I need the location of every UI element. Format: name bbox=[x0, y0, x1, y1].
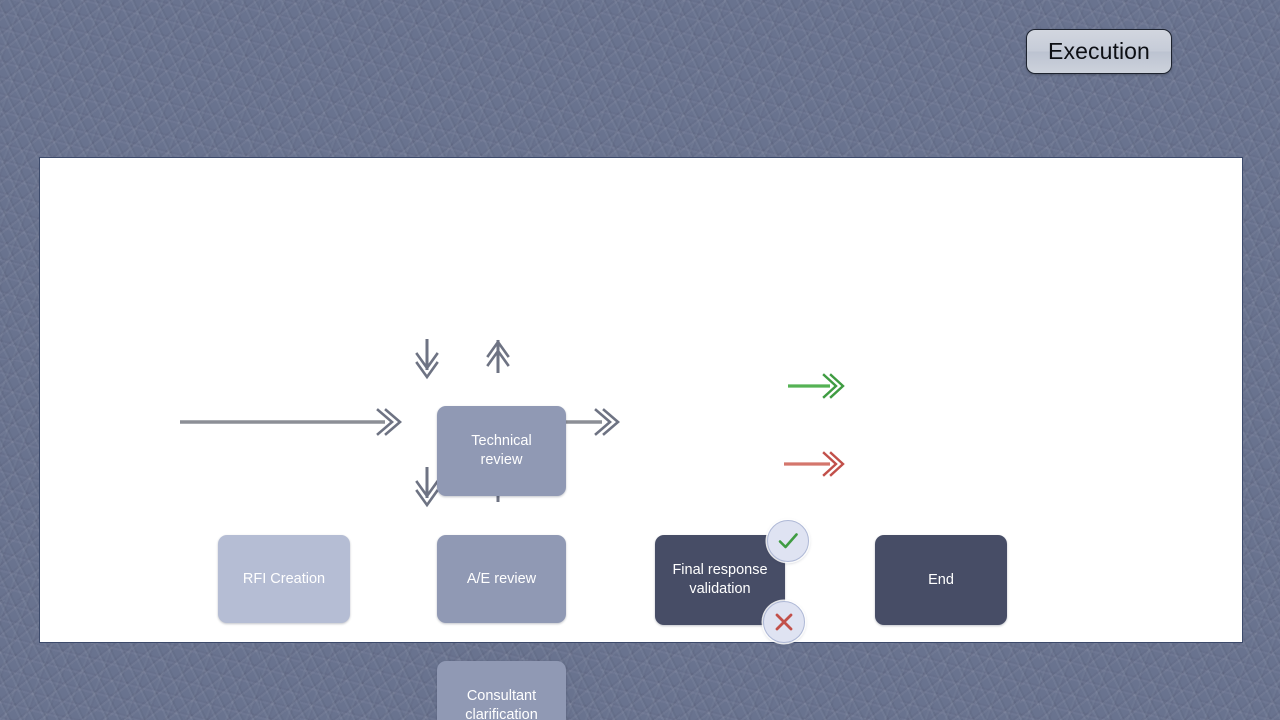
connector-ae-to-technical bbox=[488, 340, 508, 373]
decision-badge-rejected[interactable] bbox=[763, 601, 805, 643]
connector-approved-to-end bbox=[788, 375, 843, 397]
slide-stage: Execution bbox=[0, 0, 1280, 720]
node-consultant-line2: clarification bbox=[465, 707, 538, 720]
node-final-response-validation-label: Final response validation bbox=[672, 561, 767, 598]
connector-rejected-to-end bbox=[784, 453, 843, 475]
node-consultant-clarification[interactable]: Consultant clarification bbox=[437, 661, 566, 720]
node-ae-review[interactable]: A/E review bbox=[437, 535, 566, 623]
node-rfi-creation-label: RFI Creation bbox=[243, 570, 325, 589]
connector-ae-to-consultant bbox=[417, 467, 437, 505]
node-final-validation-line2: validation bbox=[689, 581, 750, 597]
node-rfi-creation[interactable]: RFI Creation bbox=[218, 535, 350, 623]
node-technical-review[interactable]: Technical review bbox=[437, 406, 566, 496]
node-end[interactable]: End bbox=[875, 535, 1007, 625]
decision-badge-approved[interactable] bbox=[767, 520, 809, 562]
node-consultant-line1: Consultant bbox=[467, 688, 536, 704]
node-technical-review-label: Technical review bbox=[471, 432, 531, 469]
connector-technical-to-ae bbox=[417, 339, 437, 377]
node-consultant-clarification-label: Consultant clarification bbox=[465, 687, 538, 720]
node-technical-review-line1: Technical bbox=[471, 433, 531, 449]
execution-phase-chip[interactable]: Execution bbox=[1026, 29, 1172, 74]
node-ae-review-label: A/E review bbox=[467, 570, 536, 589]
cross-icon bbox=[771, 609, 797, 635]
diagram-canvas: RFI Creation Technical review A/E review… bbox=[39, 157, 1243, 643]
check-icon bbox=[775, 528, 801, 554]
execution-phase-label: Execution bbox=[1048, 38, 1150, 65]
connector-rfi-to-ae bbox=[180, 410, 400, 434]
node-final-validation-line1: Final response bbox=[672, 562, 767, 578]
node-technical-review-line2: review bbox=[481, 452, 523, 468]
node-end-label: End bbox=[928, 571, 954, 590]
